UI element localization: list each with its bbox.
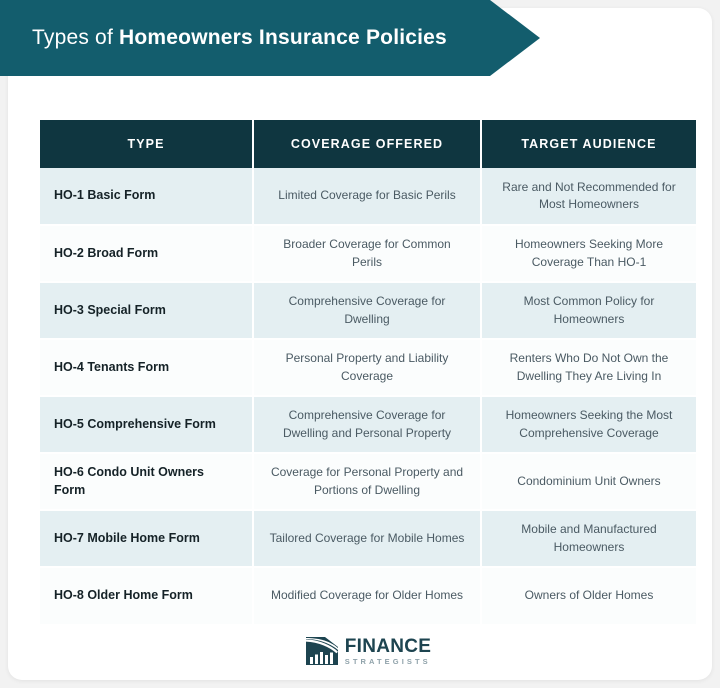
table-row: HO-2 Broad Form Broader Coverage for Com… — [40, 225, 696, 282]
cell-type: HO-8 Older Home Form — [40, 567, 253, 624]
table-row: HO-6 Condo Unit Owners Form Coverage for… — [40, 453, 696, 510]
column-header-target-audience: TARGET AUDIENCE — [481, 120, 696, 168]
cell-type: HO-3 Special Form — [40, 282, 253, 339]
table-header: TYPE COVERAGE OFFERED TARGET AUDIENCE — [40, 120, 696, 168]
cell-type: HO-5 Comprehensive Form — [40, 396, 253, 453]
cell-type: HO-7 Mobile Home Form — [40, 510, 253, 567]
table-header-row: TYPE COVERAGE OFFERED TARGET AUDIENCE — [40, 120, 696, 168]
footer-logo: FINANCE STRATEGISTS — [8, 636, 712, 666]
cell-coverage: Limited Coverage for Basic Perils — [253, 168, 481, 225]
cell-coverage: Modified Coverage for Older Homes — [253, 567, 481, 624]
table-row: HO-7 Mobile Home Form Tailored Coverage … — [40, 510, 696, 567]
cell-type: HO-6 Condo Unit Owners Form — [40, 453, 253, 510]
column-header-type: TYPE — [40, 120, 253, 168]
policy-table-container: TYPE COVERAGE OFFERED TARGET AUDIENCE HO… — [40, 120, 696, 624]
table-row: HO-5 Comprehensive Form Comprehensive Co… — [40, 396, 696, 453]
table-body: HO-1 Basic Form Limited Coverage for Bas… — [40, 168, 696, 624]
cell-audience: Mobile and Manufactured Homeowners — [481, 510, 696, 567]
cell-coverage: Comprehensive Coverage for Dwelling — [253, 282, 481, 339]
cell-coverage: Tailored Coverage for Mobile Homes — [253, 510, 481, 567]
table-row: HO-4 Tenants Form Personal Property and … — [40, 339, 696, 396]
cell-audience: Homeowners Seeking More Coverage Than HO… — [481, 225, 696, 282]
cell-audience: Rare and Not Recommended for Most Homeow… — [481, 168, 696, 225]
cell-audience: Most Common Policy for Homeowners — [481, 282, 696, 339]
logo-wordmark: FINANCE STRATEGISTS — [345, 637, 432, 666]
cell-audience: Homeowners Seeking the Most Comprehensiv… — [481, 396, 696, 453]
page-title-bold: Homeowners Insurance Policies — [119, 26, 447, 49]
cell-audience: Condominium Unit Owners — [481, 453, 696, 510]
table-row: HO-3 Special Form Comprehensive Coverage… — [40, 282, 696, 339]
table-row: HO-8 Older Home Form Modified Coverage f… — [40, 567, 696, 624]
page-title-light: Types of — [32, 26, 119, 49]
column-header-coverage-offered: COVERAGE OFFERED — [253, 120, 481, 168]
cell-coverage: Personal Property and Liability Coverage — [253, 339, 481, 396]
cell-audience: Renters Who Do Not Own the Dwelling They… — [481, 339, 696, 396]
cell-audience: Owners of Older Homes — [481, 567, 696, 624]
homeowners-policy-table: TYPE COVERAGE OFFERED TARGET AUDIENCE HO… — [40, 120, 696, 624]
title-banner: Types of Homeowners Insurance Policies — [0, 0, 540, 76]
table-row: HO-1 Basic Form Limited Coverage for Bas… — [40, 168, 696, 225]
cell-coverage: Broader Coverage for Common Perils — [253, 225, 481, 282]
cell-type: HO-2 Broad Form — [40, 225, 253, 282]
logo-word-strategists: STRATEGISTS — [345, 658, 432, 666]
cell-coverage: Coverage for Personal Property and Porti… — [253, 453, 481, 510]
cell-coverage: Comprehensive Coverage for Dwelling and … — [253, 396, 481, 453]
page-title: Types of Homeowners Insurance Policies — [0, 26, 447, 50]
cell-type: HO-1 Basic Form — [40, 168, 253, 225]
finance-strategists-chart-icon — [305, 636, 339, 666]
cell-type: HO-4 Tenants Form — [40, 339, 253, 396]
page-card: TYPE COVERAGE OFFERED TARGET AUDIENCE HO… — [8, 8, 712, 680]
logo-word-finance: FINANCE — [345, 637, 432, 656]
title-banner-wrap: Types of Homeowners Insurance Policies — [0, 0, 720, 76]
